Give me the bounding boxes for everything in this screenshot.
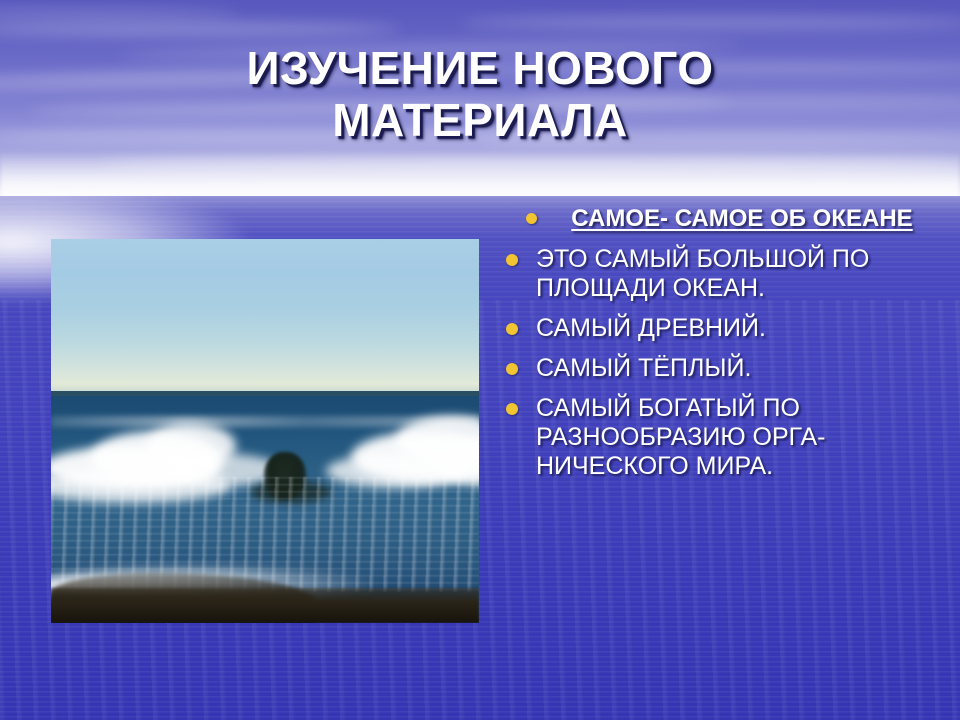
list-item: САМОЕ- САМОЕ ОБ ОКЕАНЕ: [496, 205, 948, 233]
bullet-list: САМОЕ- САМОЕ ОБ ОКЕАНЕ ЭТО САМЫЙ БОЛЬШОЙ…: [496, 205, 948, 491]
list-item-label: САМОЕ- САМОЕ ОБ ОКЕАНЕ: [536, 205, 948, 233]
cloud-streak-icon: [0, 22, 400, 36]
photo-beach: [51, 588, 479, 623]
bullet-dot-icon: [526, 213, 537, 224]
bullet-dot-icon: [506, 403, 518, 415]
bullet-dot-icon: [506, 254, 518, 266]
cloud-streak-icon: [0, 8, 240, 18]
photo-sky: [51, 239, 479, 393]
list-item-label: САМЫЙ ДРЕВНИЙ.: [536, 314, 948, 343]
list-item-label: ЭТО САМЫЙ БОЛЬШОЙ ПО ПЛОЩАДИ ОКЕАН.: [536, 245, 948, 303]
list-item: САМЫЙ ТЁПЛЫЙ.: [496, 354, 948, 383]
bullet-dot-icon: [506, 363, 518, 375]
list-item: САМЫЙ ДРЕВНИЙ.: [496, 314, 948, 343]
bullet-dot-icon: [506, 323, 518, 335]
cloud-streak-icon: [460, 16, 960, 29]
slide-title: ИЗУЧЕНИЕ НОВОГО МАТЕРИАЛА: [130, 42, 830, 147]
list-item: САМЫЙ БОГАТЫЙ ПО РАЗНООБРАЗИЮ ОРГА- НИЧЕ…: [496, 394, 948, 481]
list-item-label: САМЫЙ БОГАТЫЙ ПО РАЗНООБРАЗИЮ ОРГА- НИЧЕ…: [536, 394, 948, 481]
ocean-wave-photo: [51, 239, 479, 623]
list-item-label: САМЫЙ ТЁПЛЫЙ.: [536, 354, 948, 383]
slide-canvas: ИЗУЧЕНИЕ НОВОГО МАТЕРИАЛА САМОЕ- САМОЕ О…: [0, 0, 960, 720]
list-item: ЭТО САМЫЙ БОЛЬШОЙ ПО ПЛОЩАДИ ОКЕАН.: [496, 245, 948, 303]
